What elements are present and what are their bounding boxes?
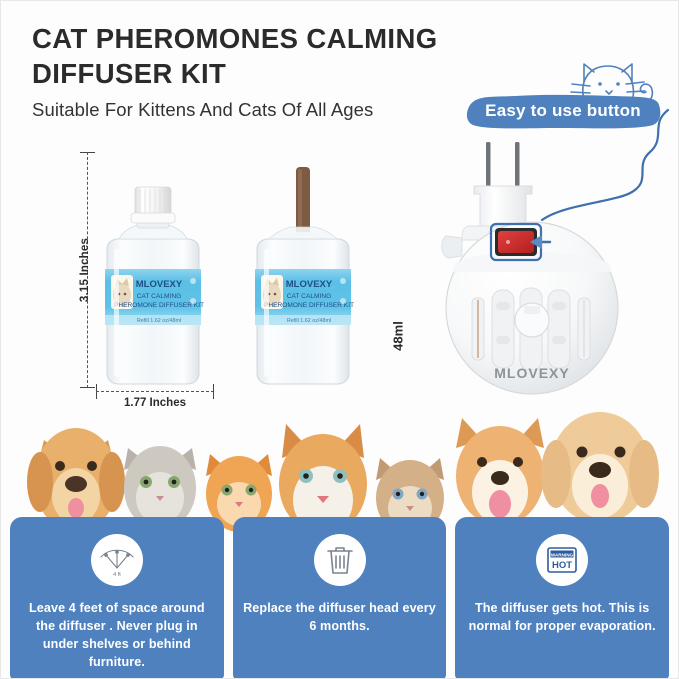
dimension-line-horizontal xyxy=(96,391,214,392)
distance-icon-label: 4 ft xyxy=(113,572,121,578)
page-title-line-2: DIFFUSER KIT xyxy=(32,57,502,92)
dimension-cap-bottom xyxy=(80,387,95,388)
volume-label: 48ml xyxy=(391,296,406,376)
svg-text:PHEROMONE DIFFUSER KIT: PHEROMONE DIFFUSER KIT xyxy=(114,302,204,309)
svg-text:Refill 1.62 oz/48ml: Refill 1.62 oz/48ml xyxy=(137,318,181,324)
diffuser-device: MLOVEXY xyxy=(432,140,632,408)
pet-golden-retriever-puppy xyxy=(541,412,659,524)
infographic-canvas: CAT PHEROMONES CALMING DIFFUSER KIT Suit… xyxy=(0,0,679,679)
volume-annotation: 48ml xyxy=(378,296,418,376)
svg-text:WARNING: WARNING xyxy=(551,552,574,557)
diffuser-brand-text: MLOVEXY xyxy=(494,365,569,381)
page-subtitle: Suitable For Kittens And Cats Of All Age… xyxy=(32,99,502,121)
refill-bottle-open: MLOVEXY CAT CALMING PHEROMONE DIFFUSER K… xyxy=(247,163,359,388)
tips-card-row: 4 ft Leave 4 feet of space around the di… xyxy=(10,517,669,679)
refill-bottle-capped: MLOVEXY CAT CALMING PHEROMONE DIFFUSER K… xyxy=(97,183,209,388)
svg-text:Refill 1.62 oz/48ml: Refill 1.62 oz/48ml xyxy=(287,318,331,324)
svg-text:MLOVEXY: MLOVEXY xyxy=(286,279,333,290)
tip-card-text: The diffuser gets hot. This is normal fo… xyxy=(455,600,669,636)
trash-can-icon xyxy=(314,534,366,586)
page-title-line-1: CAT PHEROMONES CALMING xyxy=(32,22,502,57)
tip-card-text: Leave 4 feet of space around the diffuse… xyxy=(10,600,224,672)
header-block: CAT PHEROMONES CALMING DIFFUSER KIT Suit… xyxy=(32,22,502,121)
svg-text:HOT: HOT xyxy=(552,560,572,571)
svg-text:CAT CALMING: CAT CALMING xyxy=(137,293,181,300)
svg-text:CAT CALMING: CAT CALMING xyxy=(287,293,331,300)
tip-card-heat: WARNING HOT The diffuser gets hot. This … xyxy=(455,517,669,679)
warning-hot-icon: WARNING HOT xyxy=(536,534,588,586)
pet-photo-strip xyxy=(0,404,679,534)
svg-text:PHEROMONE DIFFUSER KIT: PHEROMONE DIFFUSER KIT xyxy=(264,302,354,309)
power-switch-rocker xyxy=(498,231,534,253)
pet-shiba-inu-dog xyxy=(456,418,544,526)
height-dimension-annotation: 3.15 Inches xyxy=(74,152,100,388)
tip-card-spacing: 4 ft Leave 4 feet of space around the di… xyxy=(10,517,224,679)
height-dimension-label: 3.15 Inches xyxy=(79,220,91,320)
tip-card-text: Replace the diffuser head every 6 months… xyxy=(233,600,447,636)
distance-arc-icon: 4 ft xyxy=(91,534,143,586)
tip-card-replace: Replace the diffuser head every 6 months… xyxy=(233,517,447,679)
bottle-brand-text: MLOVEXY xyxy=(136,279,183,290)
